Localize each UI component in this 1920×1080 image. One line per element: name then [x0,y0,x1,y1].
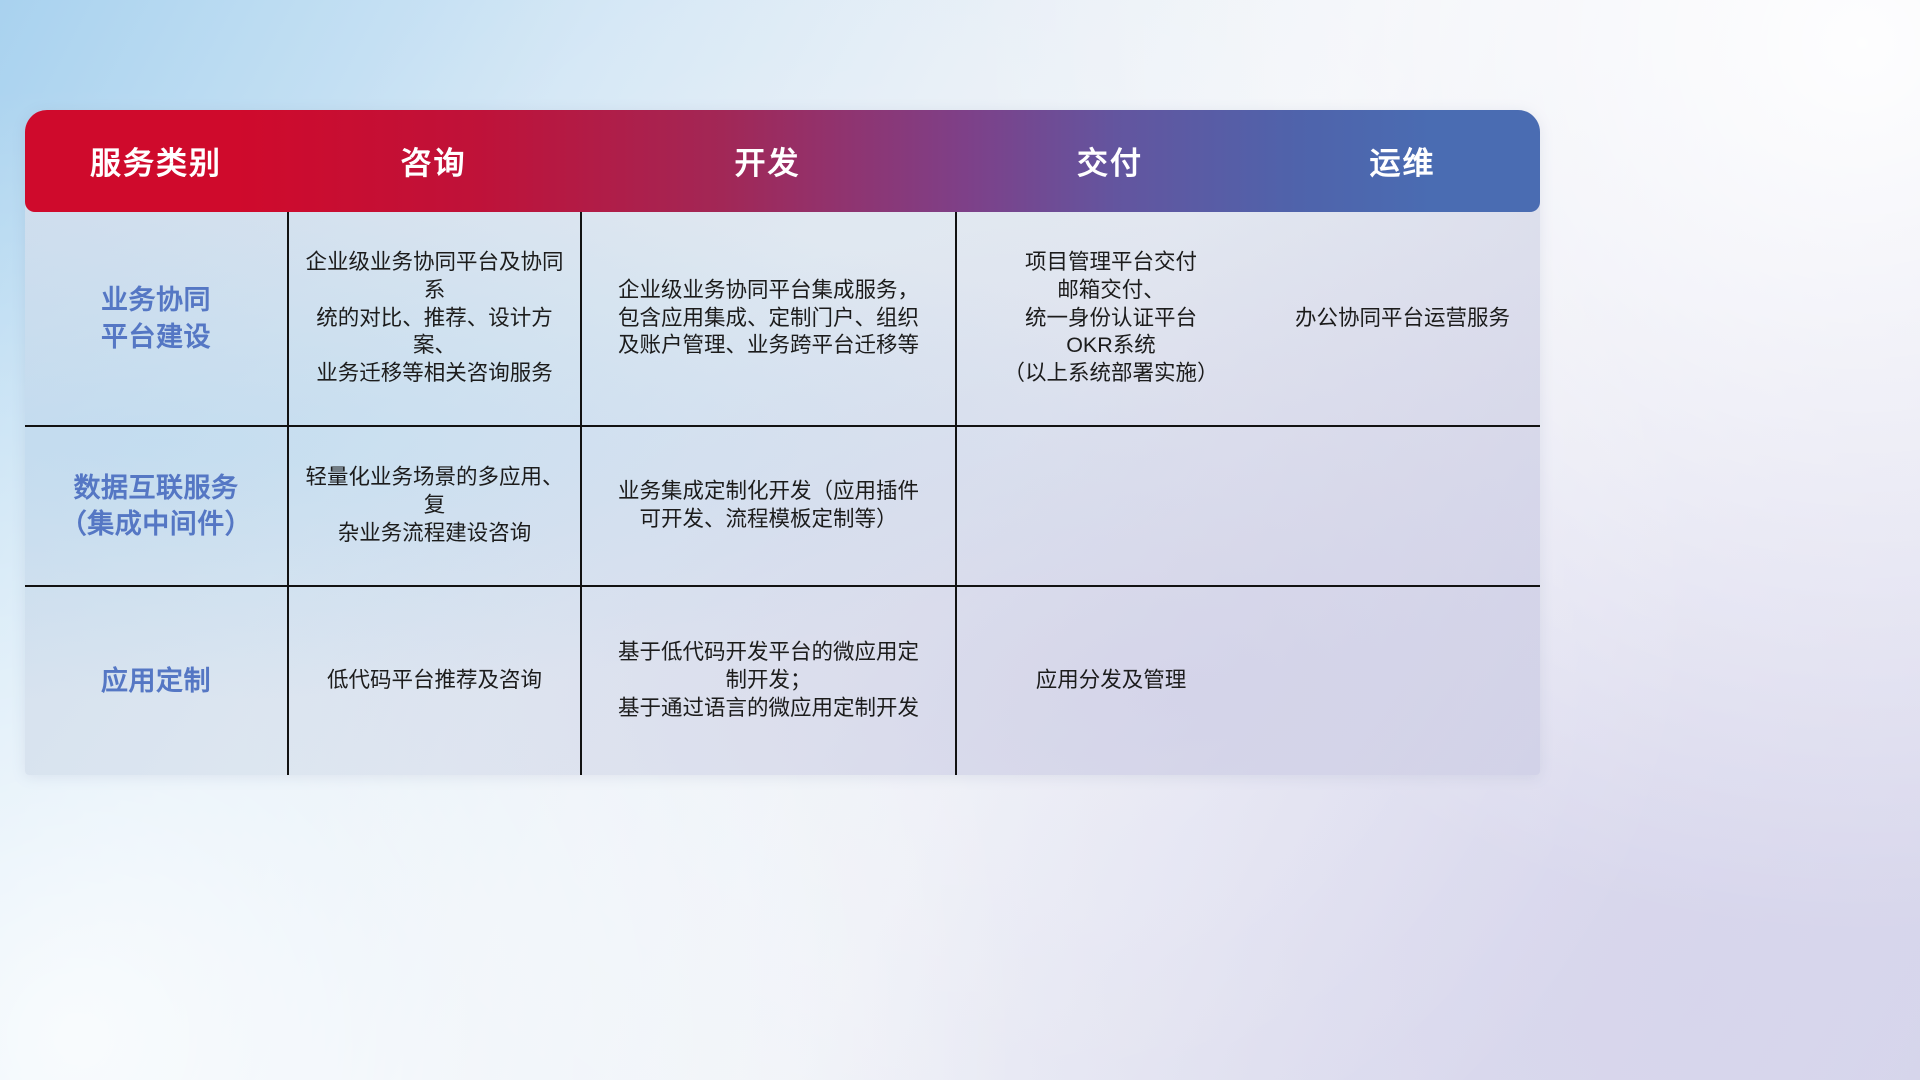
row-category-cell: 数据互联服务 （集成中间件） [25,427,287,585]
category-label: 应用定制 [101,663,211,699]
row-consulting-cell: 轻量化业务场景的多应用、复 杂业务流程建设咨询 [287,427,580,585]
table-row: 数据互联服务 （集成中间件） 轻量化业务场景的多应用、复 杂业务流程建设咨询 业… [25,427,1540,587]
table-header-row: 服务类别 咨询 开发 交付 运维 [25,110,1540,212]
header-cell-operations: 运维 [1265,144,1540,179]
row-delivery-cell [955,427,1265,585]
service-matrix-table: 服务类别 咨询 开发 交付 运维 业务协同 平台建设 企业级业务协同平台及协同系… [25,110,1540,775]
row-development-cell: 企业级业务协同平台集成服务， 包含应用集成、定制门户、组织 及账户管理、业务跨平… [580,212,955,425]
row-development-cell: 业务集成定制化开发（应用插件 可开发、流程模板定制等） [580,427,955,585]
category-label: 业务协同 平台建设 [101,282,211,354]
header-cell-development: 开发 [580,144,955,179]
row-operations-cell: 办公协同平台运营服务 [1265,212,1540,425]
table-row: 应用定制 低代码平台推荐及咨询 基于低代码开发平台的微应用定 制开发； 基于通过… [25,587,1540,775]
row-category-cell: 业务协同 平台建设 [25,212,287,425]
header-cell-service-category: 服务类别 [25,144,287,179]
row-operations-cell [1265,427,1540,585]
row-consulting-cell: 低代码平台推荐及咨询 [287,587,580,775]
table-row: 业务协同 平台建设 企业级业务协同平台及协同系 统的对比、推荐、设计方案、 业务… [25,212,1540,427]
header-cell-delivery: 交付 [955,144,1265,179]
row-delivery-cell: 项目管理平台交付 邮箱交付、 统一身份认证平台 OKR系统 （以上系统部署实施） [955,212,1265,425]
row-operations-cell [1265,587,1540,775]
table-body: 业务协同 平台建设 企业级业务协同平台及协同系 统的对比、推荐、设计方案、 业务… [25,212,1540,775]
row-consulting-cell: 企业级业务协同平台及协同系 统的对比、推荐、设计方案、 业务迁移等相关咨询服务 [287,212,580,425]
header-cell-consulting: 咨询 [287,144,580,179]
row-delivery-cell: 应用分发及管理 [955,587,1265,775]
row-development-cell: 基于低代码开发平台的微应用定 制开发； 基于通过语言的微应用定制开发 [580,587,955,775]
category-label: 数据互联服务 （集成中间件） [60,470,253,542]
row-category-cell: 应用定制 [25,587,287,775]
